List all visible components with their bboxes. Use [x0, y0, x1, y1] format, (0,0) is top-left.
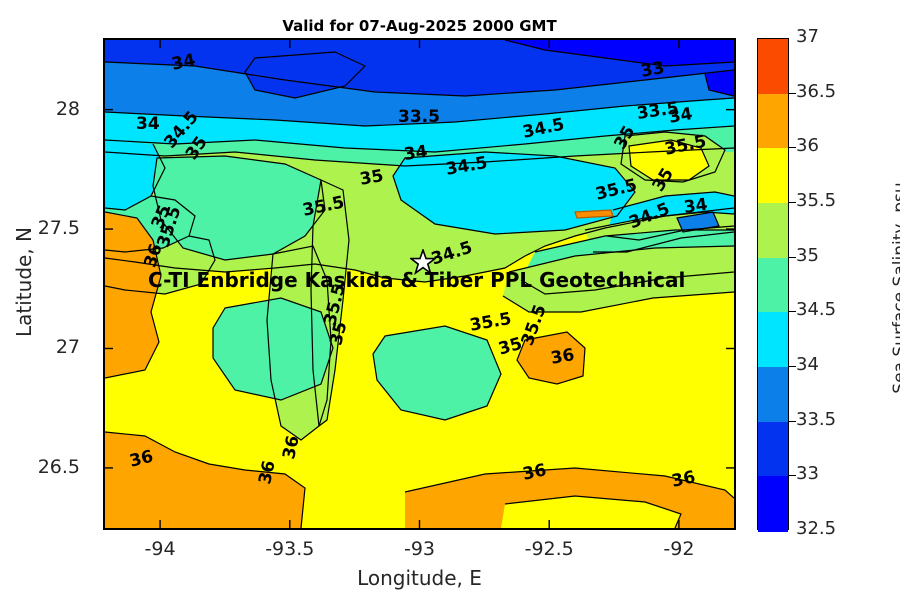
contour-label: 36 — [549, 345, 576, 369]
colorbar-segment — [758, 312, 788, 367]
colorbar-tick-mark — [789, 421, 796, 422]
contour-label: 33 — [639, 58, 666, 82]
colorbar[interactable] — [757, 38, 789, 530]
colorbar-segment — [758, 94, 788, 149]
colorbar-tick-label: 37 — [796, 26, 866, 47]
colorbar-segment — [758, 367, 788, 422]
colorbar-tick-mark — [789, 311, 796, 312]
map-annotation-label: C-TI Enbridge Kaskida & Tiber PPL Geotec… — [148, 268, 685, 292]
colorbar-tick-mark — [789, 93, 796, 94]
colorbar-tick-label: 35.5 — [796, 190, 866, 211]
colorbar-tick-mark — [789, 475, 796, 476]
colorbar-segment — [758, 258, 788, 313]
colorbar-tick-label: 32.5 — [796, 518, 866, 539]
y-axis-tick-label: 28 — [10, 98, 80, 120]
contour-label: 34 — [667, 104, 694, 128]
x-axis-tick-label: -93.5 — [250, 538, 330, 560]
colorbar-tick-label: 34 — [796, 354, 866, 375]
chart-title: Valid for 07-Aug-2025 2000 GMT — [103, 17, 736, 35]
contour-label: 33.5 — [398, 107, 440, 127]
contour-label: 34 — [136, 114, 160, 134]
colorbar-tick-label: 36 — [796, 135, 866, 156]
colorbar-segment — [758, 422, 788, 477]
colorbar-segment — [758, 39, 788, 94]
x-axis-tick-label: -93 — [380, 538, 460, 560]
colorbar-segment — [758, 476, 788, 531]
colorbar-title: Sea Surface Salinity, psu — [890, 173, 900, 403]
colorbar-tick-mark — [789, 366, 796, 367]
y-axis-title: Latitude, N — [12, 222, 36, 342]
colorbar-tick-label: 33.5 — [796, 409, 866, 430]
colorbar-tick-label: 35 — [796, 245, 866, 266]
colorbar-tick-label: 33 — [796, 463, 866, 484]
colorbar-tick-mark — [789, 257, 796, 258]
x-axis-tick-label: -94 — [120, 538, 200, 560]
colorbar-segment — [758, 148, 788, 203]
contour-label: 35 — [358, 166, 385, 190]
x-axis-title: Longitude, E — [103, 566, 736, 590]
colorbar-tick-mark — [789, 202, 796, 203]
figure-canvas: Valid for 07-Aug-2025 2000 GMT — [0, 0, 900, 600]
colorbar-tick-label: 36.5 — [796, 81, 866, 102]
contour-label: 34 — [683, 195, 709, 218]
x-axis-tick-label: -92.5 — [509, 538, 589, 560]
y-axis-tick-label: 26.5 — [10, 456, 80, 478]
contour-label: 34 — [403, 142, 429, 165]
colorbar-tick-label: 34.5 — [796, 299, 866, 320]
x-axis-tick-label: -92 — [639, 538, 719, 560]
colorbar-tick-mark — [789, 147, 796, 148]
colorbar-segment — [758, 203, 788, 258]
